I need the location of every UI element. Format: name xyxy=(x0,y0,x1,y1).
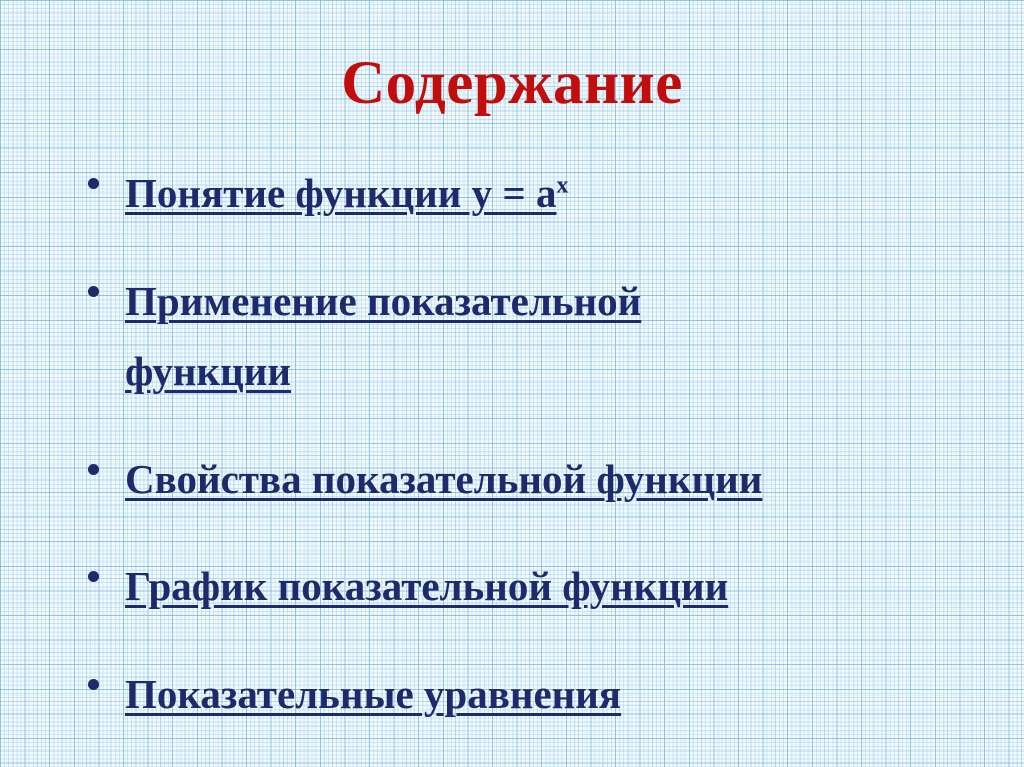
list-item: Показательные уравнения xyxy=(88,659,1008,730)
list-item: Понятие функции y = ax xyxy=(88,158,1008,229)
toc-link-primenenie-pokazatelnoy-funkcii[interactable]: Применение показательной функции xyxy=(125,266,775,407)
toc-link-label: График показательной функции xyxy=(125,563,728,609)
toc-link-grafik-pokazatelnoy-funkcii[interactable]: График показательной функции xyxy=(125,551,1008,622)
toc-link-label: Показательные уравнения xyxy=(125,671,621,717)
bullet-dot-icon xyxy=(88,571,99,582)
table-of-contents-list: Понятие функции y = ax Применение показа… xyxy=(88,158,1008,767)
bullet-dot-icon xyxy=(88,464,99,475)
list-item: Применение показательной функции xyxy=(88,266,1008,407)
slide-root: Содержание Понятие функции y = ax Примен… xyxy=(0,0,1024,767)
toc-link-label: Свойства показательной функции xyxy=(125,456,762,502)
toc-link-label: Понятие функции y = a xyxy=(125,170,556,216)
bullet-dot-icon xyxy=(88,286,99,297)
toc-link-pokazatelnye-uravneniya[interactable]: Показательные уравнения xyxy=(125,659,1008,730)
bullet-dot-icon xyxy=(88,178,99,189)
toc-link-superscript: x xyxy=(556,172,568,198)
list-item: График показательной функции xyxy=(88,551,1008,622)
slide-content: Содержание Понятие функции y = ax Примен… xyxy=(0,0,1024,767)
bullet-dot-icon xyxy=(88,679,99,690)
toc-link-svoystva-pokazatelnoy-funkcii[interactable]: Свойства показательной функции xyxy=(125,444,1008,515)
list-item: Свойства показательной функции xyxy=(88,444,1008,515)
toc-link-ponyatie-funkcii[interactable]: Понятие функции y = ax xyxy=(125,158,1008,229)
page-title: Содержание xyxy=(0,52,1024,116)
toc-link-label: Применение показательной функции xyxy=(125,278,641,395)
